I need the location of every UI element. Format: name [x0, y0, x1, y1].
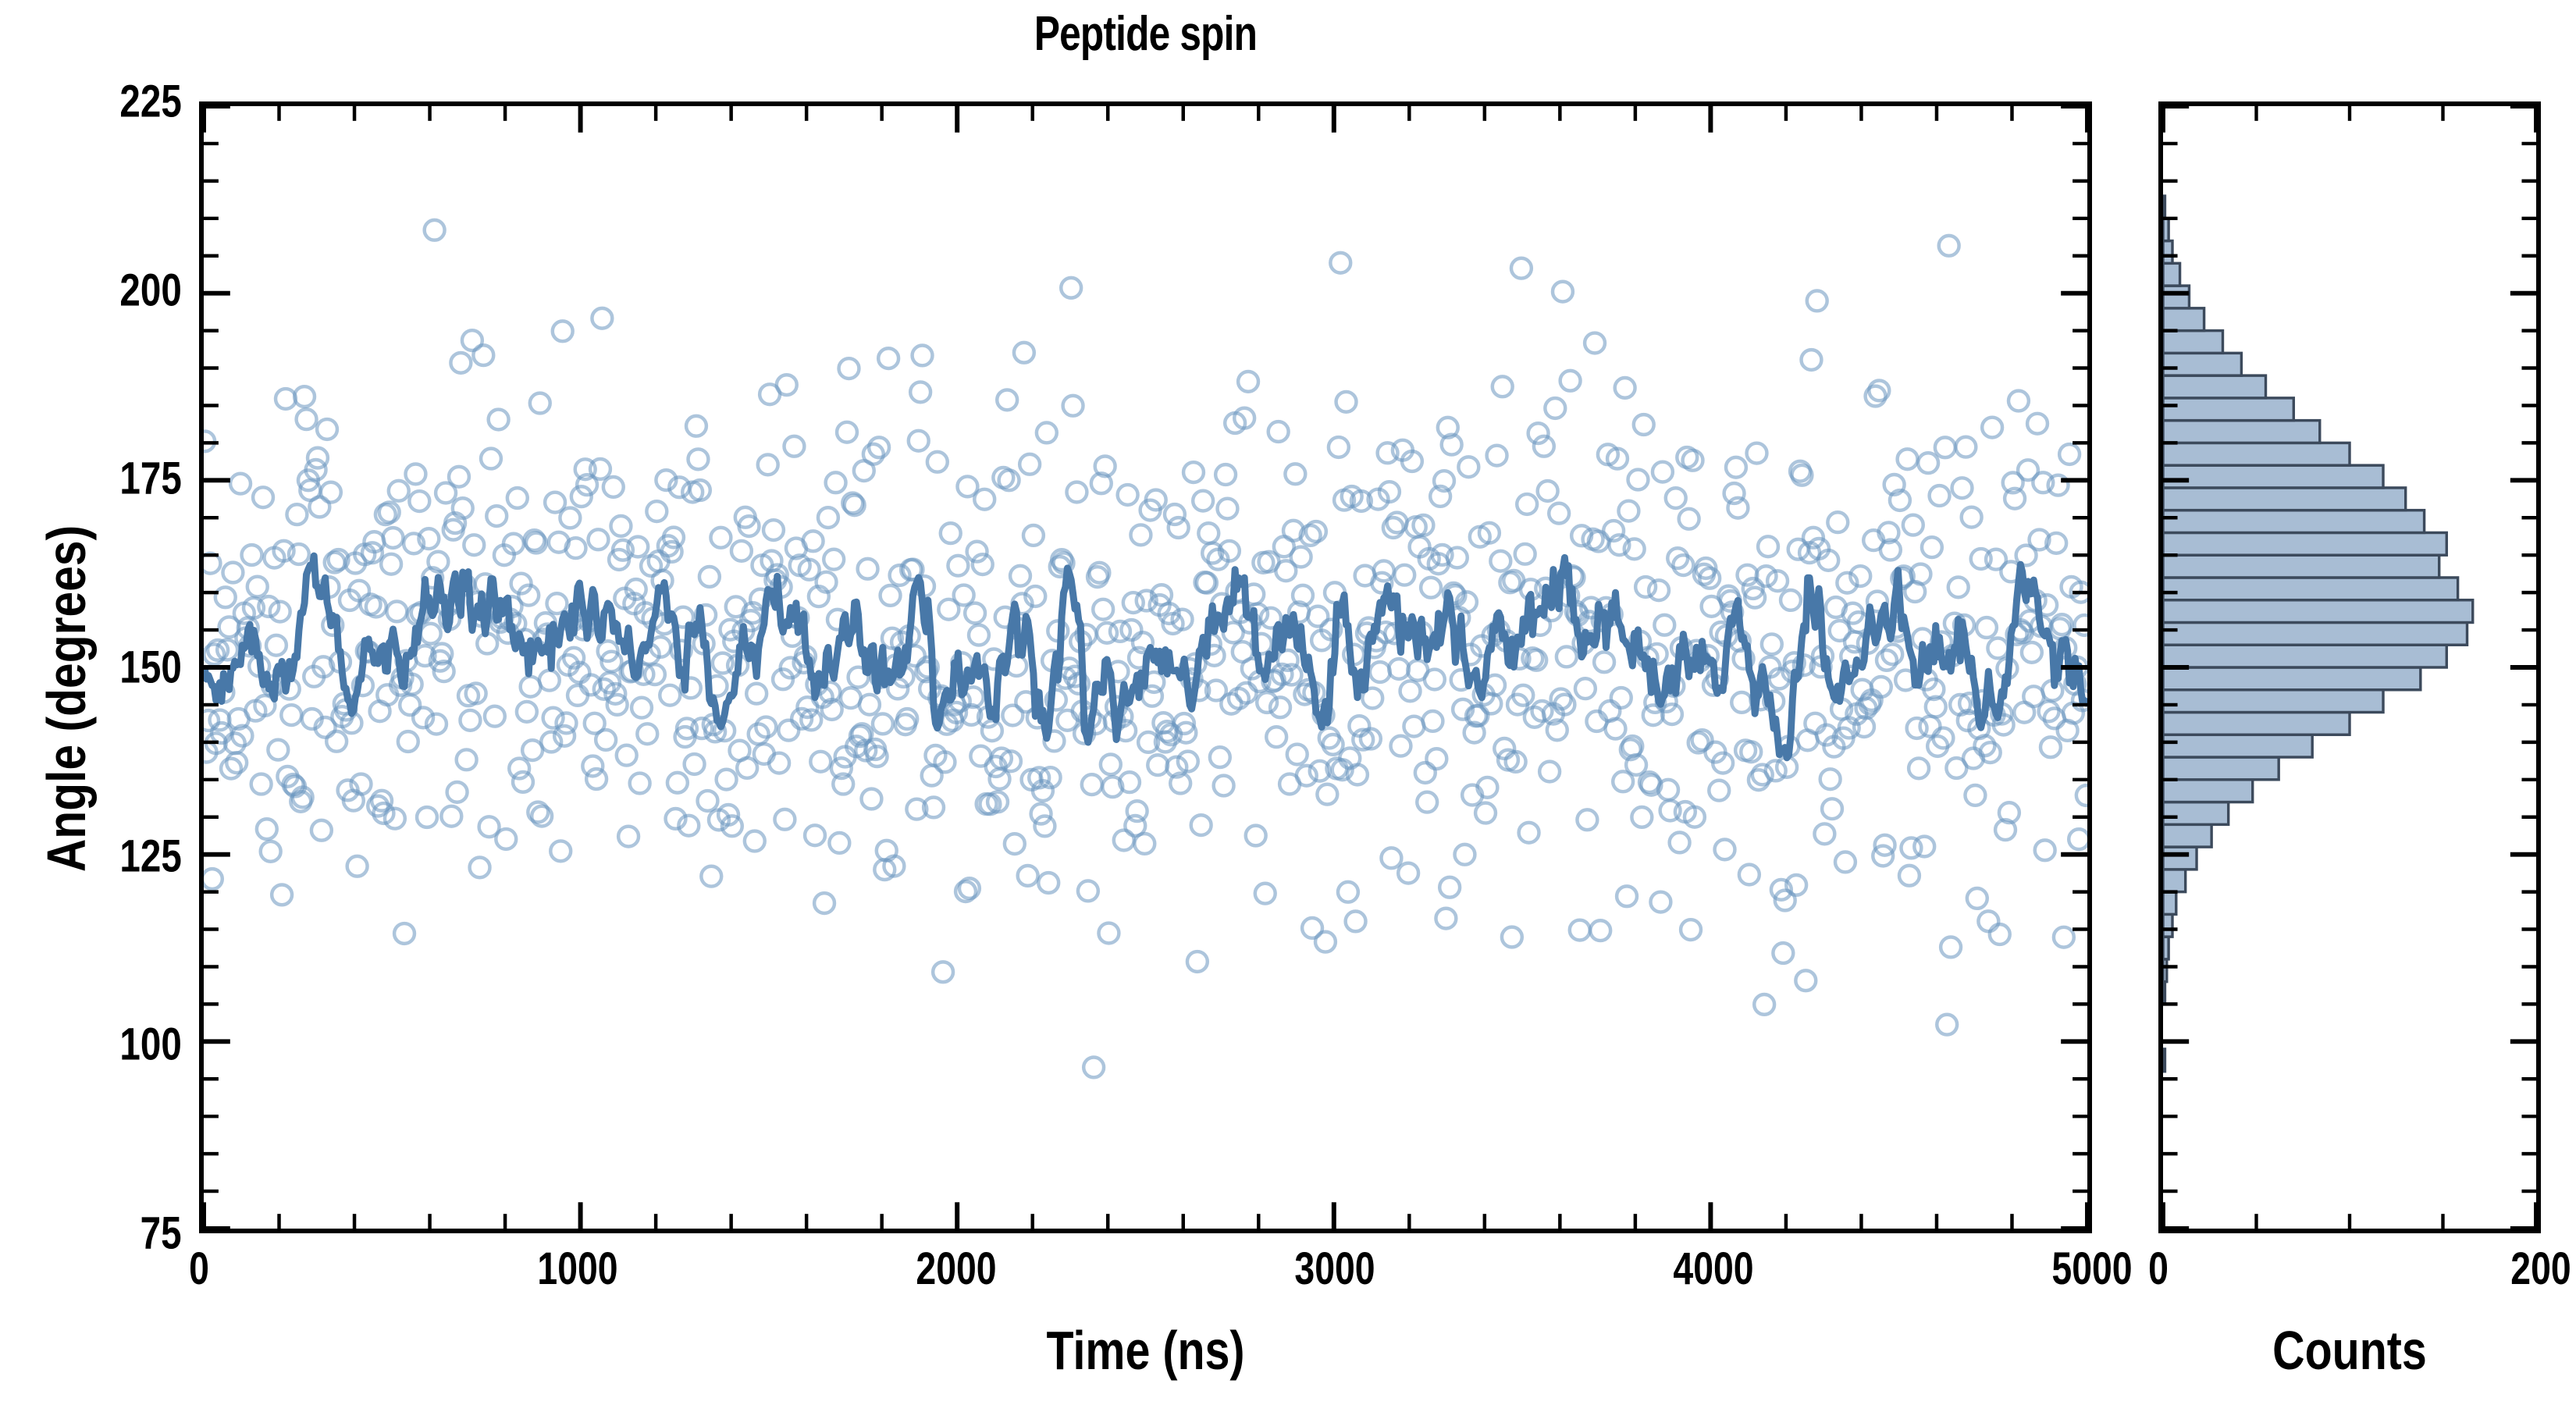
counts-histogram-panel — [2158, 101, 2541, 1233]
x-tick-label: 5000 — [2051, 1243, 2132, 1295]
y-tick-label: 125 — [120, 830, 182, 882]
histogram-x-tick-label: 0 — [2148, 1243, 2169, 1295]
x-tick-label: 4000 — [1673, 1243, 1753, 1295]
histogram-x-axis-title: Counts — [2193, 1319, 2507, 1382]
counts-histogram-plot — [2163, 106, 2536, 1229]
y-axis-title: Angle (degrees) — [35, 450, 98, 948]
x-axis-title: Time (ns) — [369, 1319, 1922, 1382]
chart-root: Peptide spin Angle (degrees) 75100125150… — [0, 0, 2576, 1405]
y-tick-label: 225 — [120, 76, 182, 128]
x-tick-label: 1000 — [537, 1243, 617, 1295]
y-tick-label: 100 — [120, 1019, 182, 1071]
x-tick-label: 0 — [189, 1243, 209, 1295]
y-tick-label: 75 — [141, 1208, 182, 1260]
y-tick-label: 200 — [120, 264, 182, 316]
time-series-plot — [204, 106, 2087, 1229]
y-tick-label: 150 — [120, 642, 182, 694]
histogram-x-tick-label: 200 — [2510, 1243, 2571, 1295]
y-tick-label: 175 — [120, 453, 182, 505]
x-tick-label: 2000 — [916, 1243, 996, 1295]
page-title: Peptide spin — [389, 6, 1903, 62]
time-series-panel — [199, 101, 2092, 1233]
x-tick-label: 3000 — [1294, 1243, 1375, 1295]
